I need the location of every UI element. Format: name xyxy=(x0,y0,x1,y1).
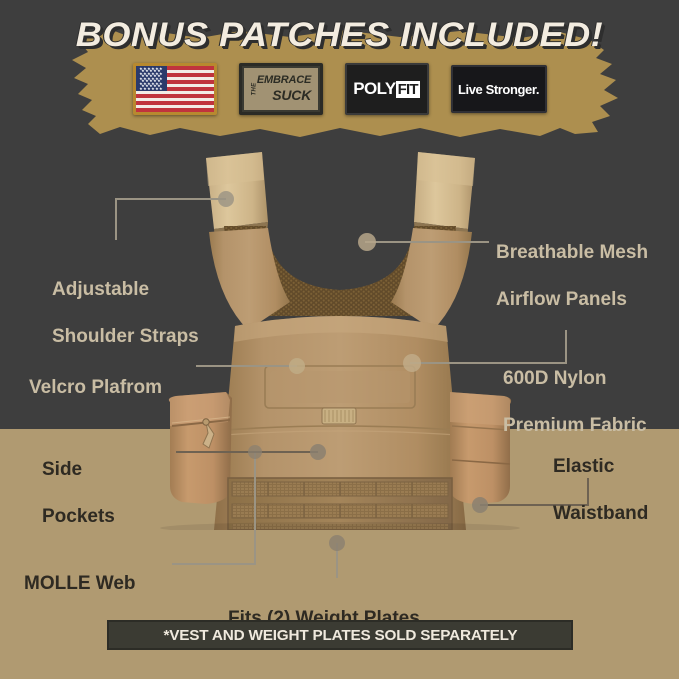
disclaimer-text: *VEST AND WEIGHT PLATES SOLD SEPARATELY xyxy=(163,627,517,644)
callout-elastic-waistband: Elastic Waistband xyxy=(553,432,679,525)
callout-velcro-platform: Velcro Plafrom xyxy=(29,353,219,399)
polyfit-patch: POLYFIT xyxy=(345,63,429,115)
callout-velcro-line1: Velcro Plafrom xyxy=(29,377,162,398)
us-flag-patch: ★★★★★★ ★★★★★ ★★★★★★ ★★★★★ ★★★★★★ ★★★★★ ★… xyxy=(133,63,217,115)
callout-molle-line1: MOLLE Web xyxy=(24,573,136,594)
callout-shoulder-line1: Adjustable xyxy=(52,279,149,300)
callout-side-pockets: Side Pockets xyxy=(42,435,172,528)
callout-nylon-line1: 600D Nylon xyxy=(503,368,606,389)
callout-elastic-line2: Waistband xyxy=(553,503,648,524)
polyfit-word-poly: POLY xyxy=(353,79,395,98)
embrace-the-suck-patch: THE EMBRACE SUCK xyxy=(239,63,323,115)
callout-breathable-mesh: Breathable Mesh Airflow Panels xyxy=(496,218,676,311)
polyfit-word-fit: FIT xyxy=(396,81,420,98)
callout-adjustable-shoulder-straps: Adjustable Shoulder Straps xyxy=(52,255,252,348)
infographic-canvas: BONUS PATCHES INCLUDED! xyxy=(0,0,679,679)
suck-suck-word: SUCK xyxy=(272,88,311,103)
page-headline: BONUS PATCHES INCLUDED! xyxy=(0,16,679,55)
callout-mesh-line2: Airflow Panels xyxy=(496,289,627,310)
suck-embrace-word: EMBRACE xyxy=(257,75,311,87)
callout-side-line2: Pockets xyxy=(42,506,115,527)
embrace-the-suck-graphic: THE EMBRACE SUCK xyxy=(242,66,320,112)
flag-graphic: ★★★★★★ ★★★★★ ★★★★★★ ★★★★★ ★★★★★★ ★★★★★ ★… xyxy=(136,66,214,112)
callout-mesh-line1: Breathable Mesh xyxy=(496,242,648,263)
suck-the-word: THE xyxy=(251,83,257,96)
callout-shoulder-line2: Shoulder Straps xyxy=(52,326,199,347)
callout-molle-web: MOLLE Web xyxy=(24,549,204,595)
bonus-patch-row: ★★★★★★ ★★★★★ ★★★★★★ ★★★★★ ★★★★★★ ★★★★★ ★… xyxy=(0,58,679,120)
callout-nylon-fabric: 600D Nylon Premium Fabric xyxy=(503,344,679,437)
live-stronger-text: Live Stronger. xyxy=(458,82,539,97)
live-stronger-patch: Live Stronger. xyxy=(451,65,547,113)
flag-canton: ★★★★★★ ★★★★★ ★★★★★★ ★★★★★ ★★★★★★ ★★★★★ ★… xyxy=(136,66,167,91)
callout-side-line1: Side xyxy=(42,459,82,480)
polyfit-logo: POLYFIT xyxy=(353,79,419,99)
disclaimer-bar: *VEST AND WEIGHT PLATES SOLD SEPARATELY xyxy=(107,620,573,650)
callout-elastic-line1: Elastic xyxy=(553,456,614,477)
